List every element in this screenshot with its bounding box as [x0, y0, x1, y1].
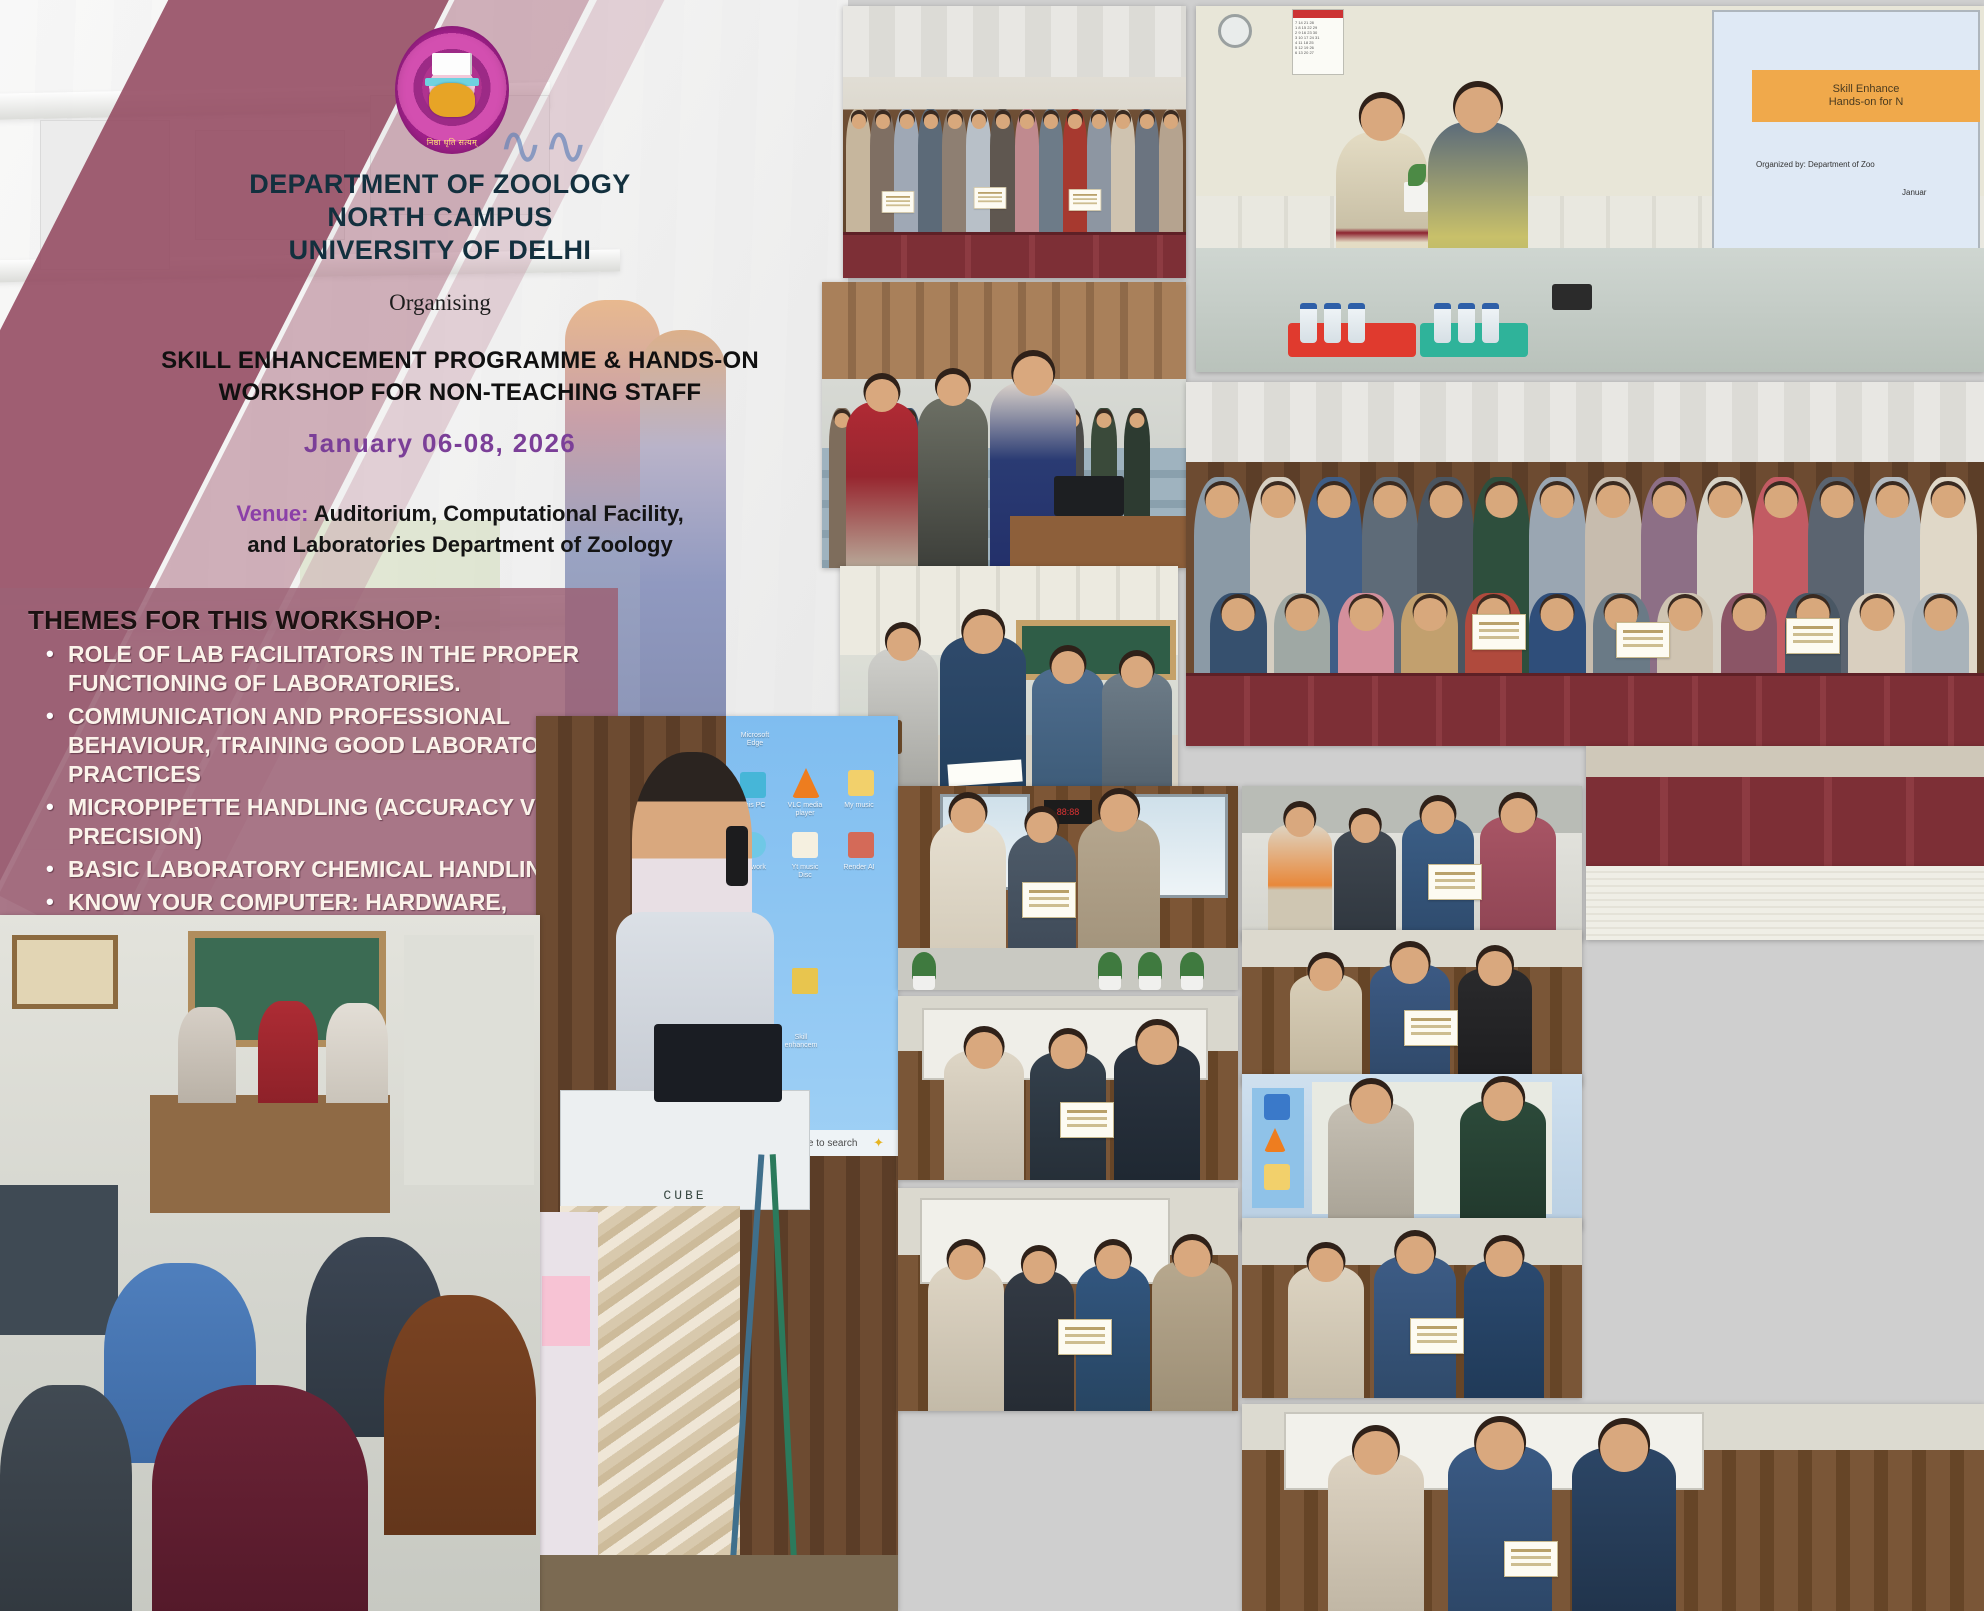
photo-certificate-ceremony-hall-2	[1242, 930, 1582, 1086]
event-dates: January 06-08, 2026	[150, 428, 730, 459]
standing-person	[918, 398, 988, 568]
person-4	[1152, 1261, 1232, 1411]
sapling-pot	[1404, 182, 1428, 212]
organising-label: Organising	[150, 290, 730, 316]
photo-document-strip	[1586, 866, 1984, 940]
theme-item: COMMUNICATION AND PROFESSIONAL BEHAVIOUR…	[38, 702, 598, 789]
photo-projection-room-two-women	[1242, 1074, 1582, 1230]
yt-music-icon	[792, 832, 818, 858]
desktop-icon-label-vlc: VLC media player	[784, 802, 826, 818]
department-line-1: DEPARTMENT OF ZOOLOGY	[150, 168, 730, 201]
slide-date: Januar	[1902, 188, 1926, 197]
venue-line-1: Venue: Auditorium, Computational Facilit…	[120, 498, 800, 529]
laptop-on-podium	[654, 1024, 782, 1102]
seated-person-red	[846, 402, 918, 568]
participant-4	[1102, 672, 1172, 788]
wall-calendar-icon: 7 14 21 281 8 15 22 292 9 16 23 303 10 1…	[1292, 9, 1344, 75]
desktop-icon-label-edge: Microsoft Edge	[734, 732, 776, 748]
themes-heading: THEMES FOR THIS WORKSHOP:	[28, 605, 588, 636]
person-3	[1114, 1044, 1200, 1180]
floor	[536, 1555, 898, 1611]
person-1	[1290, 974, 1362, 1086]
theme-item: ROLE OF LAB FACILITATORS IN THE PROPER F…	[38, 640, 598, 698]
participant-3	[1032, 668, 1104, 788]
desktop-icon-label-render: Render AI	[838, 864, 880, 872]
photo-auditorium-seats-strip	[1586, 746, 1984, 866]
slide-title-line-1: Skill Enhance	[1829, 83, 1904, 96]
theme-item: BASIC LABORATORY CHEMICAL HANDLING	[38, 855, 598, 884]
podium-brand-label: CUBE	[663, 1188, 706, 1203]
workshop-poster-collage: निष्ठा धृति सत्यम् ∿∿ DEPARTMENT OF ZOOL…	[0, 0, 1984, 1611]
photo-certificate-ceremony-hall-5	[898, 1188, 1238, 1411]
person-2	[1448, 1445, 1552, 1611]
person-3	[1458, 968, 1532, 1086]
photo-certificate-ceremony-bottom-right	[1242, 1404, 1984, 1611]
person-1	[1328, 1453, 1424, 1611]
person-1	[928, 1265, 1004, 1411]
audience-back-3	[384, 1295, 536, 1535]
theme-item: MICROPIPETTE HANDLING (ACCURACY VS. PREC…	[38, 793, 598, 851]
render-ai-icon	[848, 832, 874, 858]
microphone-icon	[726, 826, 748, 886]
university-emblem-icon: निष्ठा धृति सत्यम्	[395, 26, 509, 154]
venue-block: Venue: Auditorium, Computational Facilit…	[120, 498, 800, 560]
audience-back-5	[0, 1385, 132, 1611]
desktop-icon-label-music: My music	[838, 802, 880, 810]
wooden-desk	[1010, 516, 1186, 568]
person-3	[1572, 1447, 1676, 1611]
mobile-phone	[1552, 284, 1592, 310]
department-line-2: NORTH CAMPUS	[150, 201, 730, 234]
desktop-icon-label-skill: Skill enhancem	[780, 1034, 822, 1050]
head-table	[150, 1095, 390, 1213]
projection-screen: Skill Enhance Hands-on for N Organized b…	[1712, 10, 1980, 266]
programme-title-line-2: WORKSHOP FOR NON-TEACHING STAFF	[110, 377, 810, 409]
person-2	[1334, 830, 1396, 942]
wall-clock-icon	[1218, 14, 1252, 48]
notice-board	[536, 1212, 598, 1611]
person-right	[1460, 1100, 1546, 1230]
audience-back-4	[152, 1385, 368, 1611]
sparkle-icon: ✦	[873, 1135, 884, 1151]
photo-certificate-ceremony-hall-3	[1242, 1218, 1582, 1398]
photo-auditorium-group-large	[1186, 382, 1984, 746]
elephant-icon	[429, 83, 475, 117]
sapling-leaves-icon	[1408, 164, 1426, 186]
desktop-icon-column	[1252, 1088, 1304, 1208]
photo-plant-sapling-presentation: 7 14 21 281 8 15 22 292 9 16 23 303 10 1…	[1196, 6, 1984, 372]
lab-equipment-rack	[404, 935, 534, 1185]
slide-title-banner: Skill Enhance Hands-on for N	[1752, 70, 1980, 122]
panel-member-3	[326, 1003, 388, 1103]
person-left	[1328, 1102, 1414, 1230]
photo-group-auditorium-certificates	[843, 6, 1186, 278]
photo-seminar-back-view	[0, 915, 540, 1611]
photo-certificate-ceremony-hall-1	[1242, 786, 1582, 942]
person-4	[1480, 816, 1556, 942]
emblem-motto: निष्ठा धृति सत्यम्	[395, 137, 509, 148]
photo-certificate-ceremony-office: 88:88	[898, 786, 1238, 990]
slide-organized-by: Organized by: Department of Zoo	[1756, 160, 1875, 169]
photo-certificate-ceremony-hall-4	[898, 996, 1238, 1180]
department-title: DEPARTMENT OF ZOOLOGY NORTH CAMPUS UNIVE…	[150, 168, 730, 267]
venue-line-2: and Laboratories Department of Zoology	[120, 529, 800, 560]
photo-computational-facility-group	[822, 282, 1186, 568]
laptop	[1054, 476, 1124, 516]
document-icon	[792, 968, 818, 994]
notice-poster	[542, 1276, 590, 1346]
panel-member-2	[258, 1001, 318, 1103]
programme-title: SKILL ENHANCEMENT PROGRAMME & HANDS-ON W…	[110, 345, 810, 409]
themes-list: ROLE OF LAB FACILITATORS IN THE PROPER F…	[38, 640, 598, 950]
department-line-3: UNIVERSITY OF DELHI	[150, 234, 730, 267]
venue-label: Venue:	[236, 501, 308, 526]
vlc-media-player-icon	[792, 768, 820, 798]
photo-speaker-at-podium: Microsoft Edge This PC VLC media player …	[536, 716, 898, 1611]
person-1	[944, 1050, 1024, 1180]
person-1	[1288, 1266, 1364, 1398]
desktop-icon-label-ytmusic: Yt music Disc	[784, 864, 826, 880]
lab-bench-left	[0, 1185, 118, 1335]
notice-board	[12, 935, 118, 1009]
slide-title-line-2: Hands-on for N	[1829, 96, 1904, 109]
person-3	[1464, 1260, 1544, 1398]
programme-title-line-1: SKILL ENHANCEMENT PROGRAMME & HANDS-ON	[110, 345, 810, 377]
person-1	[1268, 824, 1332, 942]
venue-text-1: Auditorium, Computational Facility,	[308, 501, 683, 526]
book-icon	[432, 53, 472, 75]
panel-member-1	[178, 1007, 236, 1103]
music-folder-icon	[848, 770, 874, 796]
